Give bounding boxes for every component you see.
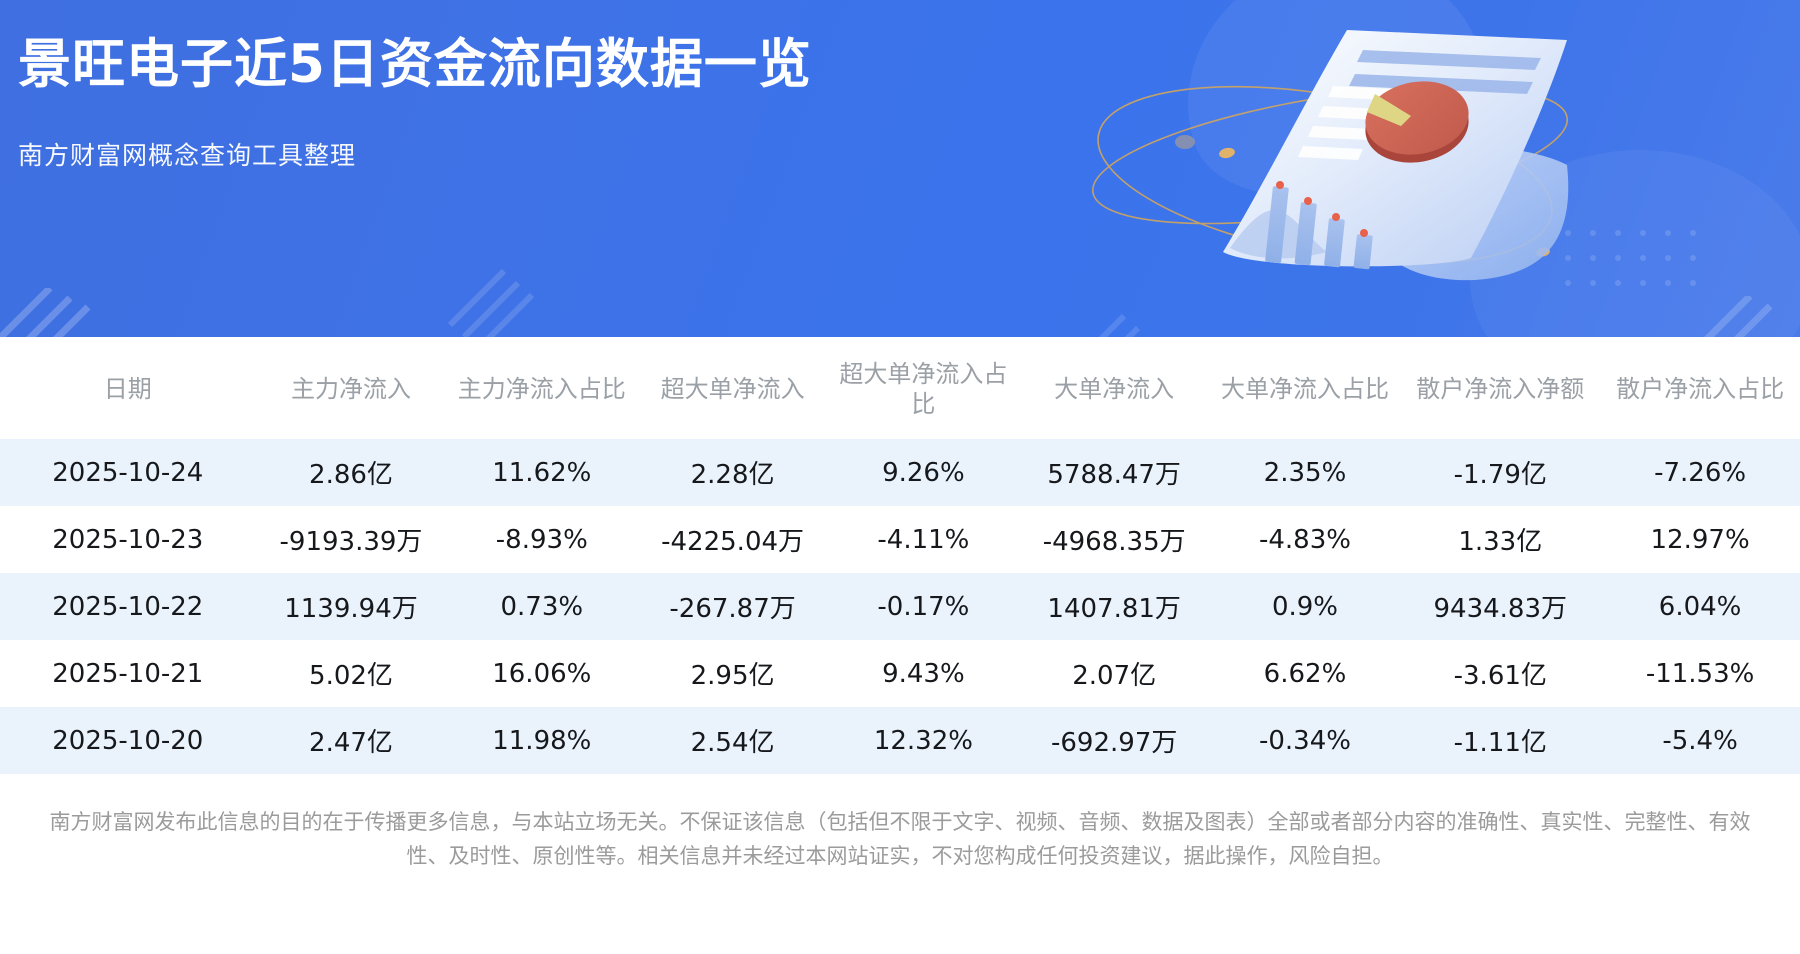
cell-main-net-inflow: 5.02亿 <box>256 640 447 707</box>
cell-main-net-inflow-ratio: 16.06% <box>446 640 637 707</box>
cell-retail-net-inflow-amount: -1.79亿 <box>1400 439 1600 506</box>
cell-date: 2025-10-21 <box>0 640 256 707</box>
cell-retail-net-inflow-ratio: 6.04% <box>1600 573 1800 640</box>
disclaimer-line-1: 南方财富网发布此信息的目的在于传播更多信息，与本站立场无关。不保证该信息（包括但… <box>14 805 1786 839</box>
table-row: 2025-10-24 2.86亿 11.62% 2.28亿 9.26% 5788… <box>0 439 1800 506</box>
cell-date: 2025-10-23 <box>0 506 256 573</box>
cell-super-large-net-inflow-ratio: -4.11% <box>828 506 1019 573</box>
column-header-main-net-inflow: 主力净流入 <box>256 337 447 439</box>
cell-large-net-inflow-ratio: 2.35% <box>1210 439 1401 506</box>
fund-flow-infographic: 景旺电子近5日资金流向数据一览 南方财富网概念查询工具整理 <box>0 0 1800 954</box>
column-header-super-large-net-inflow: 超大单净流入 <box>637 337 828 439</box>
cell-large-net-inflow-ratio: -4.83% <box>1210 506 1401 573</box>
diagonal-stripes-icon-left <box>0 288 110 337</box>
table-header-row: 日期 主力净流入 主力净流入占比 超大单净流入 超大单净流入占比 大单净流入 大… <box>0 337 1800 439</box>
page-subtitle: 南方财富网概念查询工具整理 <box>18 136 812 172</box>
cell-retail-net-inflow-amount: 9434.83万 <box>1400 573 1600 640</box>
diagonal-stripes-icon-mid <box>440 255 560 337</box>
cell-main-net-inflow: 2.47亿 <box>256 707 447 774</box>
table-header: 日期 主力净流入 主力净流入占比 超大单净流入 超大单净流入占比 大单净流入 大… <box>0 337 1800 439</box>
banner-text-block: 景旺电子近5日资金流向数据一览 南方财富网概念查询工具整理 <box>18 36 812 172</box>
cell-date: 2025-10-22 <box>0 573 256 640</box>
cell-main-net-inflow-ratio: -8.93% <box>446 506 637 573</box>
cell-retail-net-inflow-ratio: -7.26% <box>1600 439 1800 506</box>
table-row: 2025-10-23 -9193.39万 -8.93% -4225.04万 -4… <box>0 506 1800 573</box>
cell-main-net-inflow-ratio: 11.62% <box>446 439 637 506</box>
disclaimer-line-2: 性、及时性、原创性等。相关信息并未经过本网站证实，不对您构成任何投资建议，据此操… <box>14 839 1786 873</box>
diagonal-stripes-icon-far-right <box>1700 296 1800 337</box>
table-row: 2025-10-20 2.47亿 11.98% 2.54亿 12.32% -69… <box>0 707 1800 774</box>
cell-date: 2025-10-20 <box>0 707 256 774</box>
cell-super-large-net-inflow: 2.95亿 <box>637 640 828 707</box>
cell-super-large-net-inflow-ratio: 12.32% <box>828 707 1019 774</box>
table-row: 2025-10-21 5.02亿 16.06% 2.95亿 9.43% 2.07… <box>0 640 1800 707</box>
fund-flow-table-container: 南方财富网 Southmoney.com 日期 主力净流入 主力净流入占比 超大… <box>0 337 1800 800</box>
cell-large-net-inflow-ratio: 0.9% <box>1210 573 1401 640</box>
cell-retail-net-inflow-ratio: -11.53% <box>1600 640 1800 707</box>
cell-super-large-net-inflow: -4225.04万 <box>637 506 828 573</box>
cell-retail-net-inflow-amount: -3.61亿 <box>1400 640 1600 707</box>
cell-super-large-net-inflow-ratio: -0.17% <box>828 573 1019 640</box>
cell-retail-net-inflow-amount: 1.33亿 <box>1400 506 1600 573</box>
header-banner: 景旺电子近5日资金流向数据一览 南方财富网概念查询工具整理 <box>0 0 1800 337</box>
cell-retail-net-inflow-amount: -1.11亿 <box>1400 707 1600 774</box>
cell-large-net-inflow: 5788.47万 <box>1019 439 1210 506</box>
column-header-retail-net-inflow-ratio: 散户净流入占比 <box>1600 337 1800 439</box>
cell-retail-net-inflow-ratio: -5.4% <box>1600 707 1800 774</box>
cell-date: 2025-10-24 <box>0 439 256 506</box>
table-body: 2025-10-24 2.86亿 11.62% 2.28亿 9.26% 5788… <box>0 439 1800 774</box>
cell-main-net-inflow-ratio: 11.98% <box>446 707 637 774</box>
cell-large-net-inflow: -4968.35万 <box>1019 506 1210 573</box>
fund-flow-table: 日期 主力净流入 主力净流入占比 超大单净流入 超大单净流入占比 大单净流入 大… <box>0 337 1800 774</box>
cell-super-large-net-inflow-ratio: 9.26% <box>828 439 1019 506</box>
cell-large-net-inflow: -692.97万 <box>1019 707 1210 774</box>
cell-main-net-inflow: 1139.94万 <box>256 573 447 640</box>
cell-super-large-net-inflow-ratio: 9.43% <box>828 640 1019 707</box>
cell-large-net-inflow: 2.07亿 <box>1019 640 1210 707</box>
cell-super-large-net-inflow: -267.87万 <box>637 573 828 640</box>
table-row: 2025-10-22 1139.94万 0.73% -267.87万 -0.17… <box>0 573 1800 640</box>
cell-retail-net-inflow-ratio: 12.97% <box>1600 506 1800 573</box>
cell-super-large-net-inflow: 2.54亿 <box>637 707 828 774</box>
cell-large-net-inflow-ratio: -0.34% <box>1210 707 1401 774</box>
disclaimer-footer: 南方财富网发布此信息的目的在于传播更多信息，与本站立场无关。不保证该信息（包括但… <box>0 805 1800 873</box>
column-header-super-large-net-inflow-ratio: 超大单净流入占比 <box>828 337 1019 439</box>
column-header-date: 日期 <box>0 337 256 439</box>
report-document-chart-illustration <box>1075 0 1595 320</box>
column-header-large-net-inflow-ratio: 大单净流入占比 <box>1210 337 1401 439</box>
cell-large-net-inflow: 1407.81万 <box>1019 573 1210 640</box>
column-header-retail-net-inflow-amount: 散户净流入净额 <box>1400 337 1600 439</box>
page-title: 景旺电子近5日资金流向数据一览 <box>18 36 812 94</box>
cell-main-net-inflow: -9193.39万 <box>256 506 447 573</box>
cell-main-net-inflow-ratio: 0.73% <box>446 573 637 640</box>
cell-large-net-inflow-ratio: 6.62% <box>1210 640 1401 707</box>
column-header-large-net-inflow: 大单净流入 <box>1019 337 1210 439</box>
column-header-main-net-inflow-ratio: 主力净流入占比 <box>446 337 637 439</box>
cell-super-large-net-inflow: 2.28亿 <box>637 439 828 506</box>
cell-main-net-inflow: 2.86亿 <box>256 439 447 506</box>
